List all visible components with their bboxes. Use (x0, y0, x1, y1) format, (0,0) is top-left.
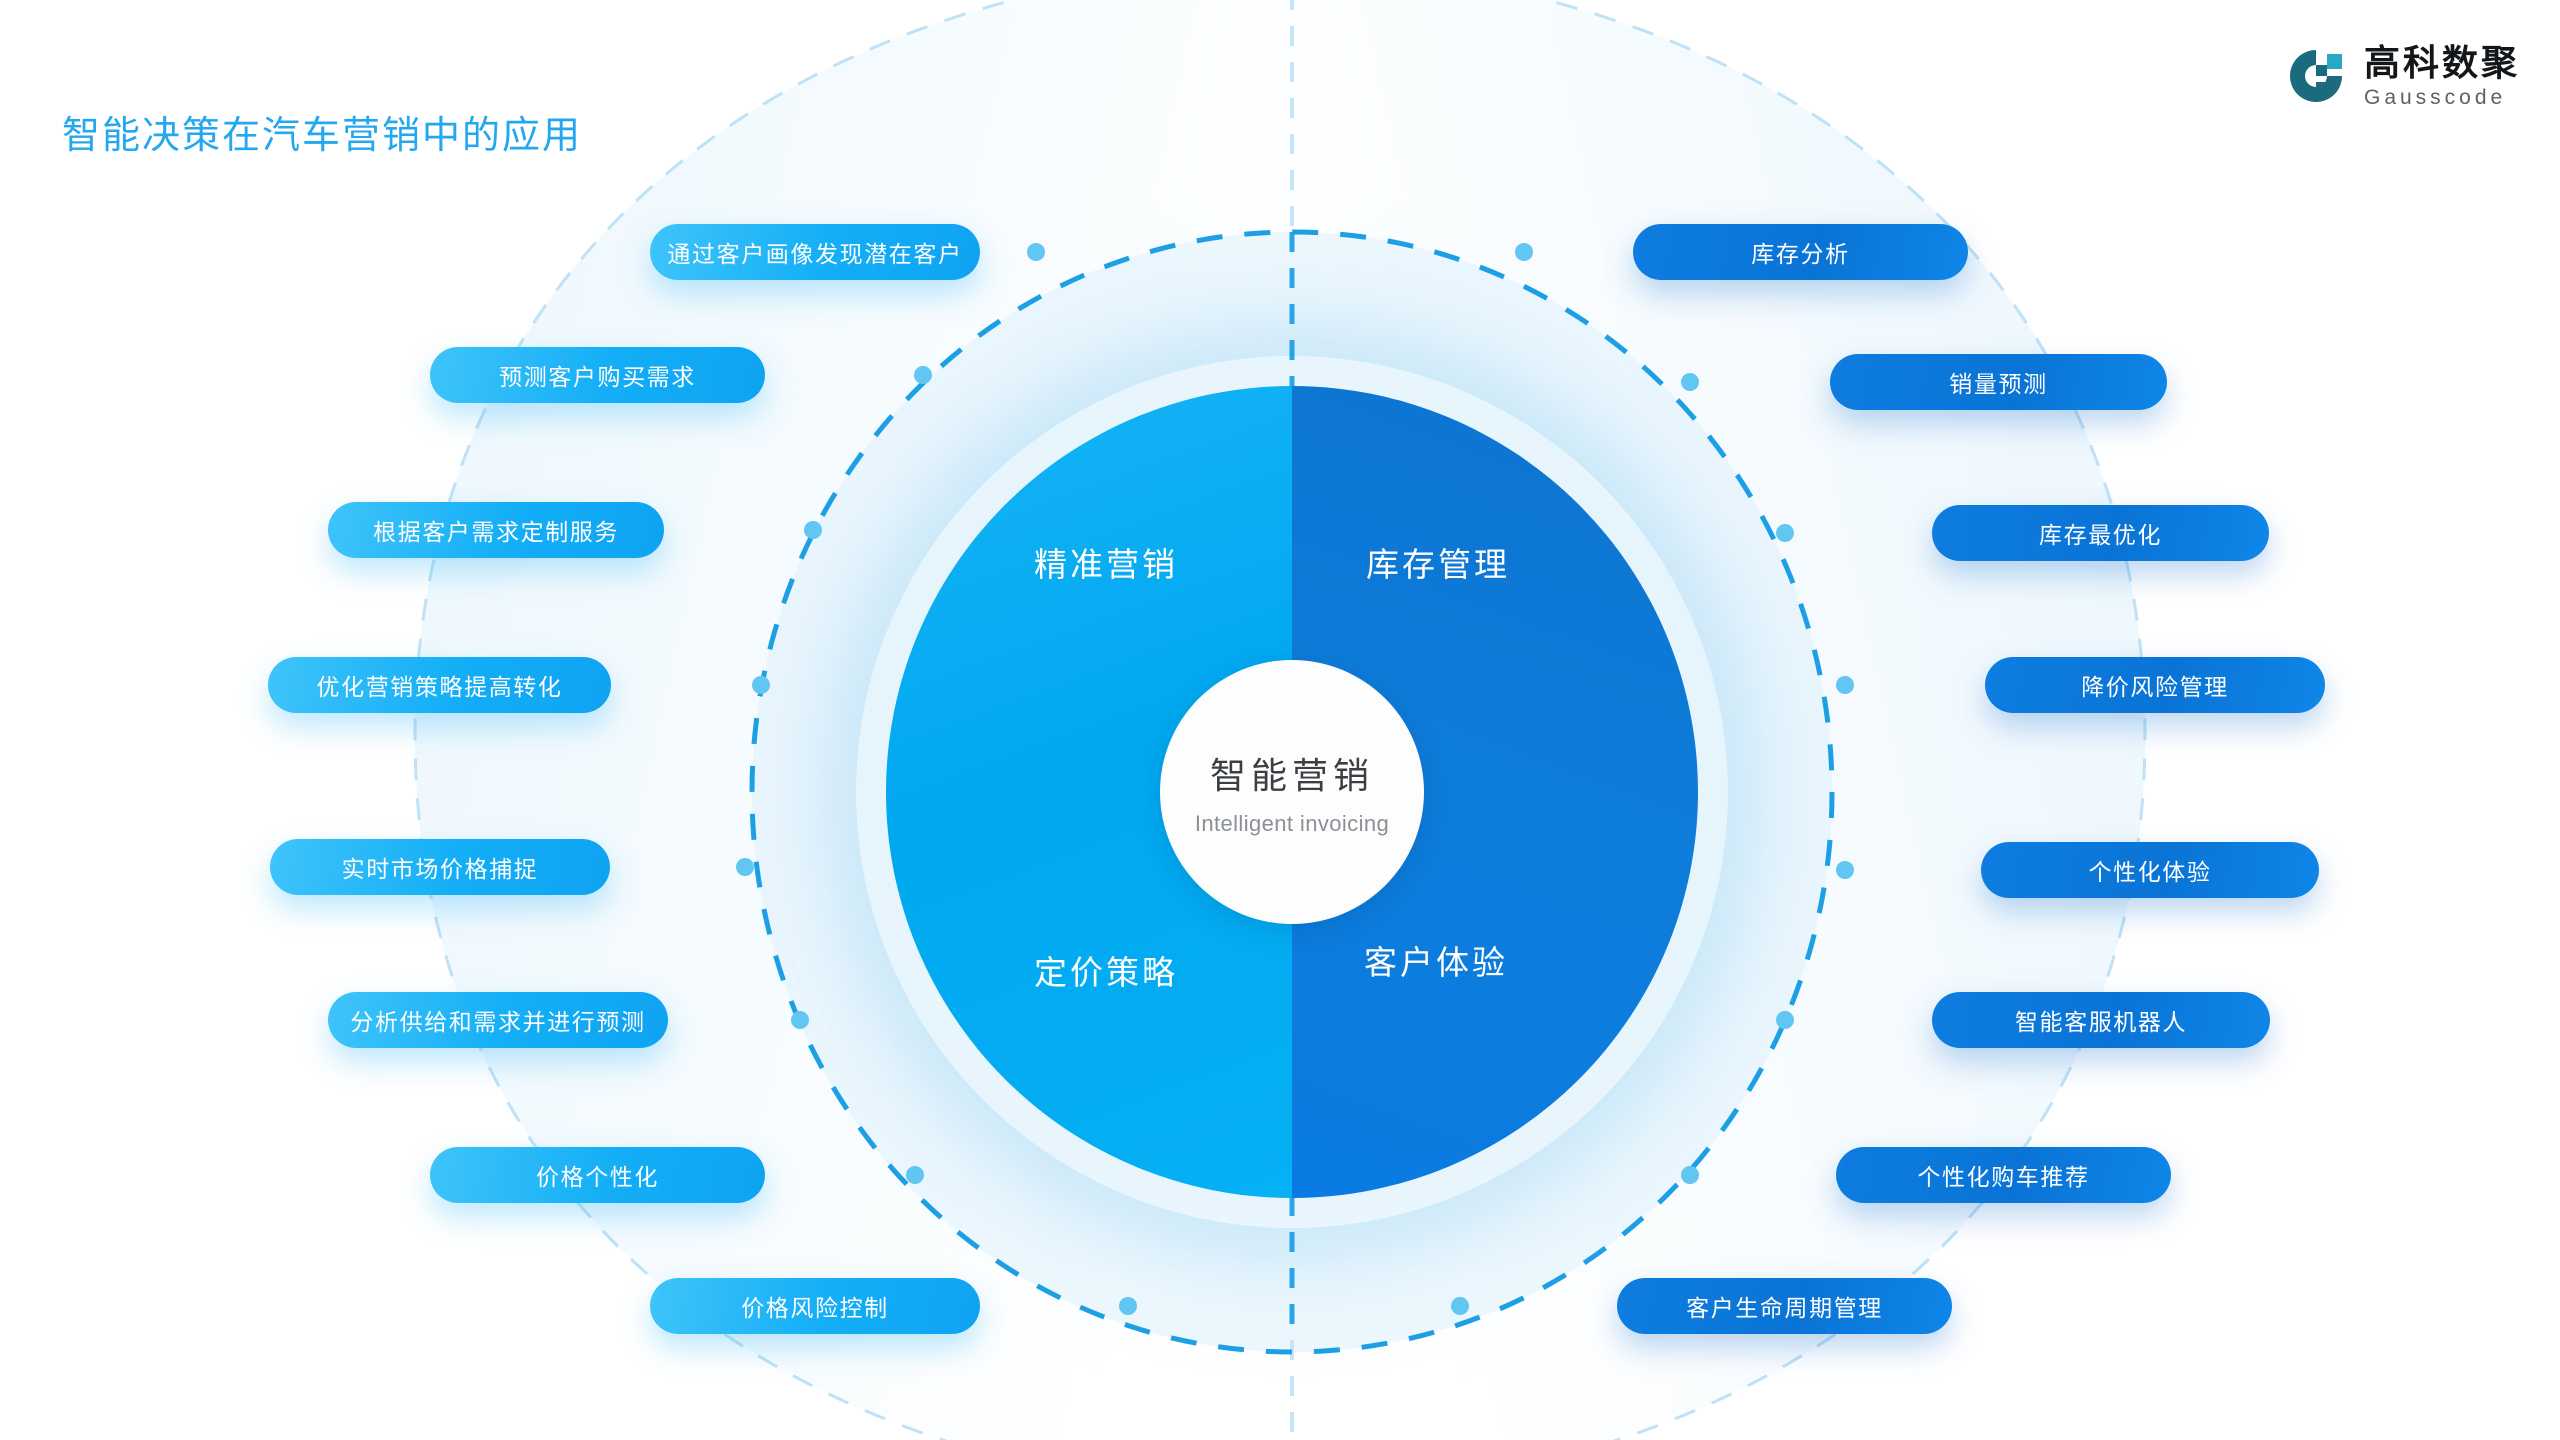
core-hub: 智能营销 Intelligent invoicing (1160, 660, 1424, 924)
connector-node (804, 521, 822, 539)
item-label: 优化营销策略提高转化 (317, 668, 563, 702)
item-label: 价格风险控制 (741, 1289, 889, 1323)
quadrant-label-inventory-management: 库存管理 (1366, 538, 1510, 586)
right-item-2[interactable]: 销量预测 (1830, 354, 2167, 410)
item-label: 个性化购车推荐 (1917, 1158, 2089, 1192)
connector-node (736, 858, 754, 876)
item-label: 通过客户画像发现潜在客户 (667, 235, 962, 269)
slide-canvas: 智能决策在汽车营销中的应用 高科数聚 Gausscode (0, 0, 2560, 1440)
connector-node (1836, 861, 1854, 879)
left-item-6[interactable]: 分析供给和需求并进行预测 (328, 992, 668, 1048)
connector-node (914, 366, 932, 384)
item-label: 预测客户购买需求 (499, 358, 696, 392)
connector-node (752, 676, 770, 694)
hub-title-cn: 智能营销 (1210, 747, 1374, 799)
hub-title-en: Intelligent invoicing (1195, 811, 1389, 837)
right-item-3[interactable]: 库存最优化 (1932, 505, 2269, 561)
right-item-8[interactable]: 客户生命周期管理 (1617, 1278, 1952, 1334)
core-wheel: 精准营销 库存管理 定价策略 客户体验 智能营销 Intelligent inv… (886, 386, 1698, 1198)
item-label: 智能客服机器人 (2015, 1003, 2187, 1037)
item-label: 客户生命周期管理 (1686, 1289, 1883, 1323)
quadrant-label-customer-experience: 客户体验 (1364, 936, 1508, 984)
quadrant-label-precision-marketing: 精准营销 (1034, 538, 1178, 586)
item-label: 库存最优化 (2039, 516, 2162, 550)
left-item-1[interactable]: 通过客户画像发现潜在客户 (650, 224, 980, 280)
item-label: 销量预测 (1949, 365, 2047, 399)
right-item-6[interactable]: 智能客服机器人 (1932, 992, 2270, 1048)
connector-node (1836, 676, 1854, 694)
item-label: 价格个性化 (536, 1158, 659, 1192)
connector-node (791, 1011, 809, 1029)
item-label: 实时市场价格捕捉 (342, 850, 539, 884)
left-item-5[interactable]: 实时市场价格捕捉 (270, 839, 610, 895)
right-item-7[interactable]: 个性化购车推荐 (1836, 1147, 2171, 1203)
right-item-1[interactable]: 库存分析 (1633, 224, 1968, 280)
connector-node (1451, 1297, 1469, 1315)
connector-node (1776, 1011, 1794, 1029)
connector-node (1027, 243, 1045, 261)
item-label: 根据客户需求定制服务 (373, 513, 619, 547)
quadrant-label-pricing-strategy: 定价策略 (1034, 946, 1178, 994)
item-label: 库存分析 (1751, 235, 1849, 269)
left-item-2[interactable]: 预测客户购买需求 (430, 347, 765, 403)
left-item-7[interactable]: 价格个性化 (430, 1147, 765, 1203)
item-label: 分析供给和需求并进行预测 (350, 1003, 645, 1037)
left-item-3[interactable]: 根据客户需求定制服务 (328, 502, 664, 558)
right-item-5[interactable]: 个性化体验 (1981, 842, 2319, 898)
left-item-8[interactable]: 价格风险控制 (650, 1278, 980, 1334)
connector-node (1776, 524, 1794, 542)
connector-node (1119, 1297, 1137, 1315)
left-item-4[interactable]: 优化营销策略提高转化 (268, 657, 611, 713)
connector-node (1515, 243, 1533, 261)
item-label: 个性化体验 (2089, 853, 2212, 887)
right-item-4[interactable]: 降价风险管理 (1985, 657, 2325, 713)
item-label: 降价风险管理 (2081, 668, 2229, 702)
